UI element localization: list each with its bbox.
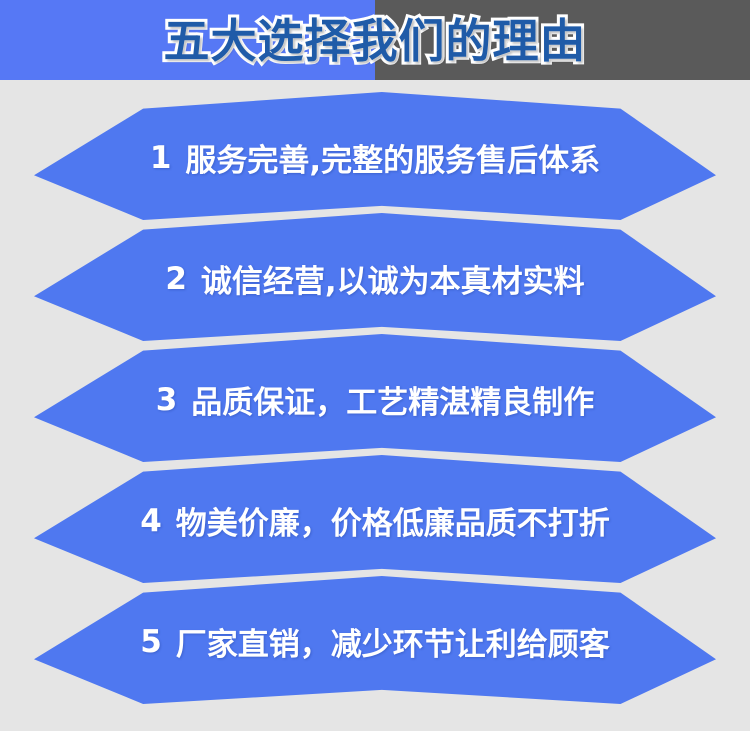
banner-content: 4 物美价廉，价格低廉品质不打折 [0,455,750,583]
banner-label: 厂家直销，减少环节让利给顾客 [176,619,610,664]
banner-content: 1 服务完善,完整的服务售后体系 [0,92,750,220]
banner-number: 2 [165,261,187,297]
banner-content: 2 诚信经营,以诚为本真材实料 [0,213,750,341]
banner-content: 5 厂家直销，减少环节让利给顾客 [0,576,750,704]
banner-number: 3 [156,382,178,418]
page-title: 五大选择我们的理由 [0,0,750,80]
banner-number: 5 [140,624,162,660]
header-banner: 五大选择我们的理由 [0,0,750,80]
banner-label: 诚信经营,以诚为本真材实料 [201,256,585,301]
banner-label: 品质保证，工艺精湛精良制作 [191,377,594,422]
banner-label: 物美价廉，价格低廉品质不打折 [176,498,610,543]
banner-content: 3 品质保证，工艺精湛精良制作 [0,334,750,462]
list-item: 2 诚信经营,以诚为本真材实料 [0,213,750,341]
banner-number: 4 [140,503,162,539]
list-item: 3 品质保证，工艺精湛精良制作 [0,334,750,462]
list-item: 1 服务完善,完整的服务售后体系 [0,92,750,220]
list-item: 5 厂家直销，减少环节让利给顾客 [0,576,750,704]
reasons-list: 1 服务完善,完整的服务售后体系 2 诚信经营,以诚为本真材实料 3 品质保证，… [0,80,750,731]
list-item: 4 物美价廉，价格低廉品质不打折 [0,455,750,583]
banner-number: 1 [150,140,172,176]
banner-label: 服务完善,完整的服务售后体系 [185,135,600,180]
